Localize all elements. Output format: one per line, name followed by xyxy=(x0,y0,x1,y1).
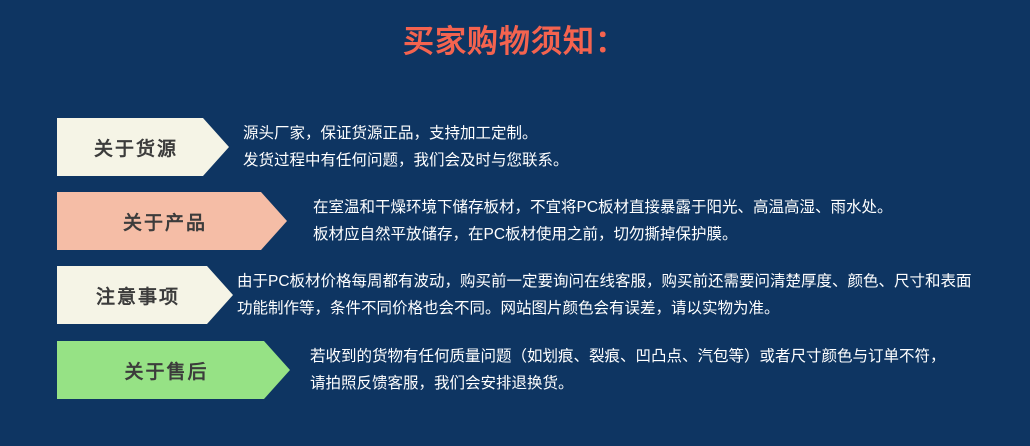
notice-row: 注意事项 由于PC板材价格每周都有波动，购买前一定要询问在线客服，购买前还需要问… xyxy=(0,266,1030,330)
body-line: 请拍照反馈客服，我们会安排退换货。 xyxy=(310,370,946,397)
body-line: 板材应自然平放储存，在PC板材使用之前，切勿撕掉保护膜。 xyxy=(313,221,893,248)
section-body: 若收到的货物有任何质量问题（如划痕、裂痕、凹凸点、汽包等）或者尺寸颜色与订单不符… xyxy=(310,343,946,397)
body-line: 在室温和干燥环境下储存板材，不宜将PC板材直接暴露于阳光、高温高湿、雨水处。 xyxy=(313,194,893,221)
section-banner-source: 关于货源 xyxy=(57,118,229,176)
section-label: 关于售后 xyxy=(124,357,208,384)
section-banner-product: 关于产品 xyxy=(57,192,287,250)
section-body: 源头厂家，保证货源正品，支持加工定制。 发货过程中有任何问题，我们会及时与您联系… xyxy=(243,120,569,174)
section-label: 关于货源 xyxy=(94,134,178,161)
notice-row: 关于售后 若收到的货物有任何质量问题（如划痕、裂痕、凹凸点、汽包等）或者尺寸颜色… xyxy=(0,341,1030,405)
notice-row: 关于货源 源头厂家，保证货源正品，支持加工定制。 发货过程中有任何问题，我们会及… xyxy=(0,118,1030,182)
body-line: 若收到的货物有任何质量问题（如划痕、裂痕、凹凸点、汽包等）或者尺寸颜色与订单不符… xyxy=(310,343,946,370)
body-line: 功能制作等，条件不同价格也会不同。网站图片颜色会有误差，请以实物为准。 xyxy=(237,295,972,322)
body-line: 由于PC板材价格每周都有波动，购买前一定要询问在线客服，购买前还需要问清楚厚度、… xyxy=(237,268,972,295)
section-label: 注意事项 xyxy=(96,282,180,309)
shopping-notice-banner: 买家购物须知： 关于货源 源头厂家，保证货源正品，支持加工定制。 发货过程中有任… xyxy=(0,0,1030,446)
section-body: 由于PC板材价格每周都有波动，购买前一定要询问在线客服，购买前还需要问清楚厚度、… xyxy=(237,268,972,322)
notice-row: 关于产品 在室温和干燥环境下储存板材，不宜将PC板材直接暴露于阳光、高温高湿、雨… xyxy=(0,192,1030,256)
page-title: 买家购物须知： xyxy=(0,20,1030,64)
section-label: 关于产品 xyxy=(123,208,207,235)
section-banner-aftersales: 关于售后 xyxy=(57,341,290,399)
body-line: 发货过程中有任何问题，我们会及时与您联系。 xyxy=(243,147,569,174)
body-line: 源头厂家，保证货源正品，支持加工定制。 xyxy=(243,120,569,147)
section-body: 在室温和干燥环境下储存板材，不宜将PC板材直接暴露于阳光、高温高湿、雨水处。 板… xyxy=(313,194,893,248)
section-banner-attention: 注意事项 xyxy=(57,266,233,324)
